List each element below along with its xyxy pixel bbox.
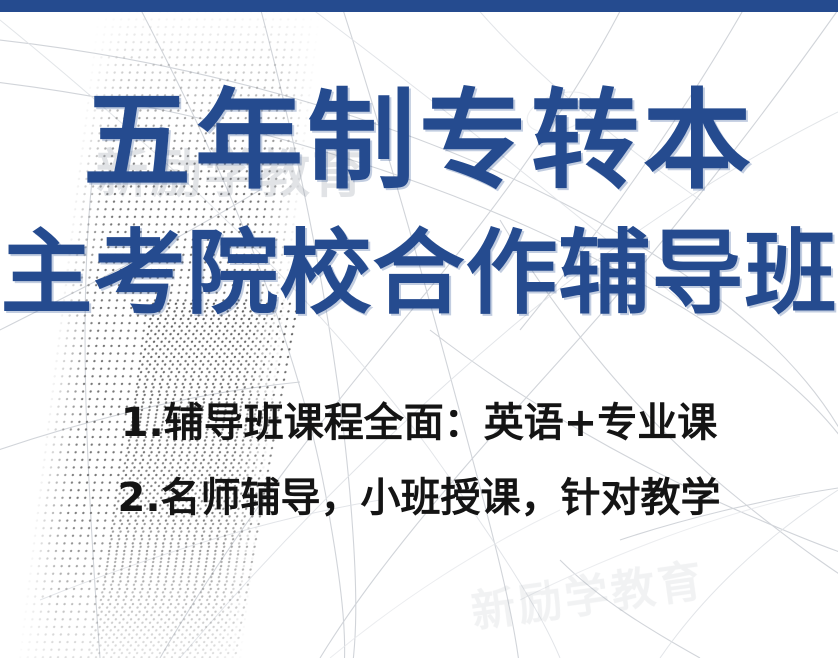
- poster-canvas: 新励学教育 新励学教育 五年制专转本 主考院校合作辅导班 1.辅导班课程全面：英…: [0, 0, 838, 658]
- bullet-item-1: 1.辅导班课程全面：英语+专业课: [0, 403, 838, 443]
- top-accent-bar: [0, 0, 838, 12]
- watermark-secondary: 新励学教育: [467, 544, 709, 640]
- headline-line-2: 主考院校合作辅导班: [0, 228, 838, 320]
- headline-line-1: 五年制专转本: [0, 88, 838, 196]
- bullet-item-2: 2.名师辅导，小班授课，针对教学: [0, 478, 838, 518]
